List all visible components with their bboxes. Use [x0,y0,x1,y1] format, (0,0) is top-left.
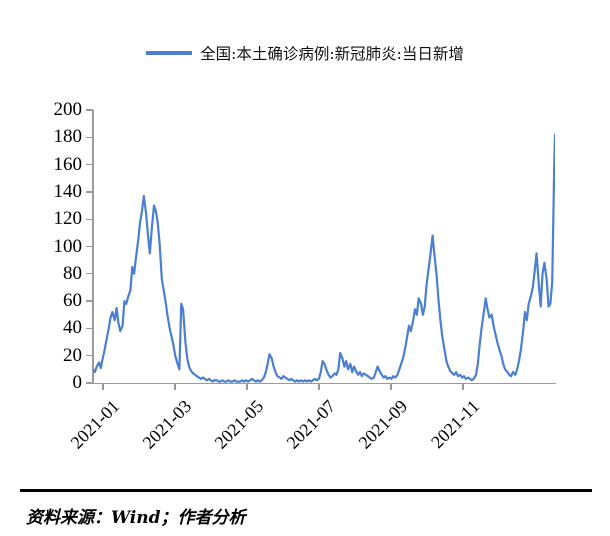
legend-line-swatch [146,51,192,55]
y-tick-label: 120 [38,209,82,228]
y-tick-label: 180 [38,127,82,146]
y-tick-label: 140 [38,182,82,201]
y-tick-mark [86,300,93,301]
x-tick-label: 2021-11 [405,396,483,474]
x-tick-mark [246,383,247,390]
x-tick-label: 2021-05 [189,396,267,474]
source-note: 资料来源：Wind；作者分析 [26,503,246,528]
y-tick-mark [86,164,93,165]
y-tick-mark [86,382,93,383]
y-tick-label: 80 [38,264,82,283]
y-tick-label: 20 [38,346,82,365]
x-tick-label: 2021-09 [333,396,411,474]
y-tick-mark [86,191,93,192]
y-tick-mark [86,355,93,356]
y-tick-label: 40 [38,318,82,337]
chart-figure: 全国:本土确诊病例:新冠肺炎:当日新增 20018016014012010080… [0,0,610,536]
x-tick-mark [390,383,391,390]
y-tick-mark [86,109,93,110]
y-tick-mark [86,137,93,138]
y-tick-label: 0 [38,373,82,392]
x-tick-mark [174,383,175,390]
y-tick-mark [86,328,93,329]
x-tick-mark [102,383,103,390]
y-tick-label: 200 [38,100,82,119]
x-tick-mark [318,383,319,390]
x-tick-label: 2021-03 [117,396,195,474]
series-line-covid-daily-cases [93,110,555,383]
y-tick-label: 60 [38,291,82,310]
y-tick-mark [86,246,93,247]
chart-legend: 全国:本土确诊病例:新冠肺炎:当日新增 [0,36,610,70]
y-tick-mark [86,219,93,220]
y-tick-label: 100 [38,237,82,256]
x-tick-label: 2021-07 [261,396,339,474]
y-tick-label: 160 [38,155,82,174]
plot-area [93,110,555,383]
y-tick-mark [86,273,93,274]
legend-series-label: 全国:本土确诊病例:新冠肺炎:当日新增 [200,42,464,64]
footer-divider [20,489,592,492]
x-tick-mark [462,383,463,390]
